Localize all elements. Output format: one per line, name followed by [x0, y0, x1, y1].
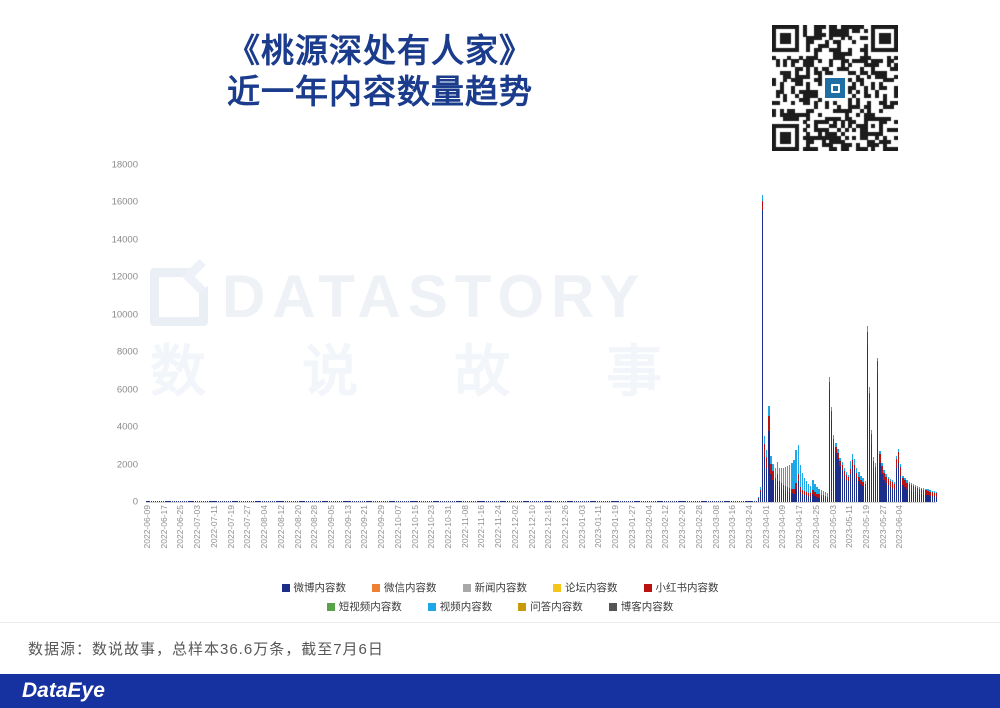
chart-legend: 微博内容数微信内容数新闻内容数论坛内容数小红书内容数短视频内容数视频内容数问答内…	[0, 580, 1000, 618]
infographic-page: 《桃源深处有人家》 近一年内容数量趋势 DATASTORY 数说故事 02000…	[0, 0, 1000, 708]
x-axis-tick-label: 2023-03-16	[727, 505, 737, 548]
legend-label: 微博内容数	[294, 580, 347, 595]
x-axis-tick-label: 2023-05-27	[878, 505, 888, 548]
x-axis-tick-label: 2022-09-13	[343, 505, 353, 548]
y-axis-tick: 8000	[117, 347, 138, 358]
x-axis-tick-label: 2022-07-27	[242, 505, 252, 548]
legend-item[interactable]: 问答内容数	[518, 599, 583, 614]
x-axis-tick-label: 2022-11-16	[476, 505, 486, 548]
legend-item[interactable]: 论坛内容数	[553, 580, 618, 595]
page-title: 《桃源深处有人家》 近一年内容数量趋势	[0, 30, 760, 112]
x-axis-tick-label: 2022-10-15	[410, 505, 420, 548]
legend-color-swatch	[609, 603, 617, 611]
y-axis-tick: 16000	[112, 197, 138, 208]
legend-item[interactable]: 新闻内容数	[463, 580, 528, 595]
x-axis-tick-label: 2023-05-11	[844, 505, 854, 548]
legend-color-swatch	[553, 584, 561, 592]
legend-color-swatch	[463, 584, 471, 592]
legend-item[interactable]: 视频内容数	[428, 599, 493, 614]
legend-label: 博客内容数	[621, 599, 674, 614]
legend-row: 短视频内容数视频内容数问答内容数博客内容数	[0, 599, 1000, 614]
legend-label: 论坛内容数	[565, 580, 618, 595]
x-axis-tick-label: 2022-10-07	[393, 505, 403, 548]
legend-item[interactable]: 短视频内容数	[327, 599, 402, 614]
x-axis-tick-label: 2022-09-05	[326, 505, 336, 548]
x-axis-tick-label: 2023-03-24	[744, 505, 754, 548]
y-axis-tick: 18000	[112, 160, 138, 171]
x-axis-tick-label: 2022-12-18	[543, 505, 553, 548]
legend-label: 小红书内容数	[656, 580, 719, 595]
x-axis-tick-label: 2022-11-24	[493, 505, 503, 548]
bar-chart: 0200040006000800010000120001400016000180…	[0, 160, 1000, 520]
x-axis-tick-label: 2022-09-21	[359, 505, 369, 548]
legend-label: 视频内容数	[440, 599, 493, 614]
source-bar: 数据源：数说故事，总样本36.6万条，截至7月6日	[0, 622, 1000, 674]
legend-color-swatch	[282, 584, 290, 592]
x-axis-tick-label: 2023-01-19	[610, 505, 620, 548]
x-axis-tick-label: 2023-04-17	[794, 505, 804, 548]
x-axis-tick-label: 2023-04-01	[761, 505, 771, 548]
x-axis-tick-label: 2022-06-09	[142, 505, 152, 548]
x-axis-tick-label: 2023-01-27	[627, 505, 637, 548]
stacked-bar[interactable]	[936, 492, 937, 502]
x-axis-tick-label: 2022-12-26	[560, 505, 570, 548]
x-axis-tick-label: 2022-06-17	[159, 505, 169, 548]
x-axis-tick-label: 2023-03-08	[711, 505, 721, 548]
legend-color-swatch	[518, 603, 526, 611]
y-axis-tick: 6000	[117, 384, 138, 395]
x-axis-tick-label: 2023-02-04	[644, 505, 654, 548]
legend-label: 新闻内容数	[475, 580, 528, 595]
x-axis-tick-label: 2023-02-12	[660, 505, 670, 548]
x-axis-tick-label: 2023-02-20	[677, 505, 687, 548]
x-axis-tick-label: 2022-08-04	[259, 505, 269, 548]
x-axis-tick-label: 2022-08-12	[276, 505, 286, 548]
x-axis-tick-label: 2022-07-19	[226, 505, 236, 548]
legend-item[interactable]: 微信内容数	[372, 580, 437, 595]
legend-item[interactable]: 微博内容数	[282, 580, 347, 595]
title-line-2: 近一年内容数量趋势	[0, 71, 760, 112]
plot-area	[146, 165, 936, 502]
bar-slot[interactable]	[935, 165, 937, 502]
x-axis-tick-label: 2023-01-03	[577, 505, 587, 548]
y-axis-tick: 10000	[112, 309, 138, 320]
qr-center-logo-icon	[823, 76, 847, 100]
x-axis-tick-label: 2022-06-25	[175, 505, 185, 548]
y-axis-tick: 2000	[117, 459, 138, 470]
legend-color-swatch	[428, 603, 436, 611]
x-axis-tick-label: 2023-04-25	[811, 505, 821, 548]
x-axis-tick-label: 2023-04-09	[777, 505, 787, 548]
y-axis-tick: 0	[133, 497, 138, 508]
legend-item[interactable]: 小红书内容数	[644, 580, 719, 595]
legend-color-swatch	[644, 584, 652, 592]
x-axis-tick-label: 2022-10-31	[443, 505, 453, 548]
legend-row: 微博内容数微信内容数新闻内容数论坛内容数小红书内容数	[0, 580, 1000, 595]
x-axis-tick-label: 2022-08-20	[293, 505, 303, 548]
x-axis-tick-label: 2023-05-19	[861, 505, 871, 548]
x-axis-labels: 2022-06-092022-06-172022-06-252022-07-03…	[146, 505, 936, 577]
x-axis-tick-label: 2022-11-08	[460, 505, 470, 548]
x-axis-line	[146, 502, 936, 503]
x-axis-tick-label: 2022-10-23	[426, 505, 436, 548]
bar-segment	[936, 497, 937, 502]
legend-color-swatch	[327, 603, 335, 611]
y-axis: 0200040006000800010000120001400016000180…	[0, 160, 146, 502]
bar-series-container	[146, 165, 936, 502]
y-axis-tick: 4000	[117, 422, 138, 433]
x-axis-tick-label: 2022-12-02	[510, 505, 520, 548]
x-axis-tick-label: 2022-08-28	[309, 505, 319, 548]
y-axis-tick: 12000	[112, 272, 138, 283]
dataeye-brand: DataEye	[22, 679, 105, 703]
legend-label: 问答内容数	[530, 599, 583, 614]
x-axis-tick-label: 2022-12-10	[527, 505, 537, 548]
source-text: 数据源：数说故事，总样本36.6万条，截至7月6日	[28, 638, 384, 659]
x-axis-tick-label: 2022-09-29	[376, 505, 386, 548]
qr-code[interactable]	[772, 25, 898, 151]
x-axis-tick-label: 2023-06-04	[894, 505, 904, 548]
x-axis-tick-label: 2022-07-11	[209, 505, 219, 548]
x-axis-tick-label: 2023-05-03	[828, 505, 838, 548]
x-axis-tick-label: 2023-02-28	[694, 505, 704, 548]
x-axis-tick-label: 2023-01-11	[593, 505, 603, 548]
legend-label: 微信内容数	[384, 580, 437, 595]
legend-label: 短视频内容数	[339, 599, 402, 614]
x-axis-tick-label: 2022-07-03	[192, 505, 202, 548]
legend-item[interactable]: 博客内容数	[609, 599, 674, 614]
title-line-1: 《桃源深处有人家》	[0, 30, 760, 71]
footer-bar: DataEye	[0, 674, 1000, 708]
y-axis-tick: 14000	[112, 234, 138, 245]
legend-color-swatch	[372, 584, 380, 592]
